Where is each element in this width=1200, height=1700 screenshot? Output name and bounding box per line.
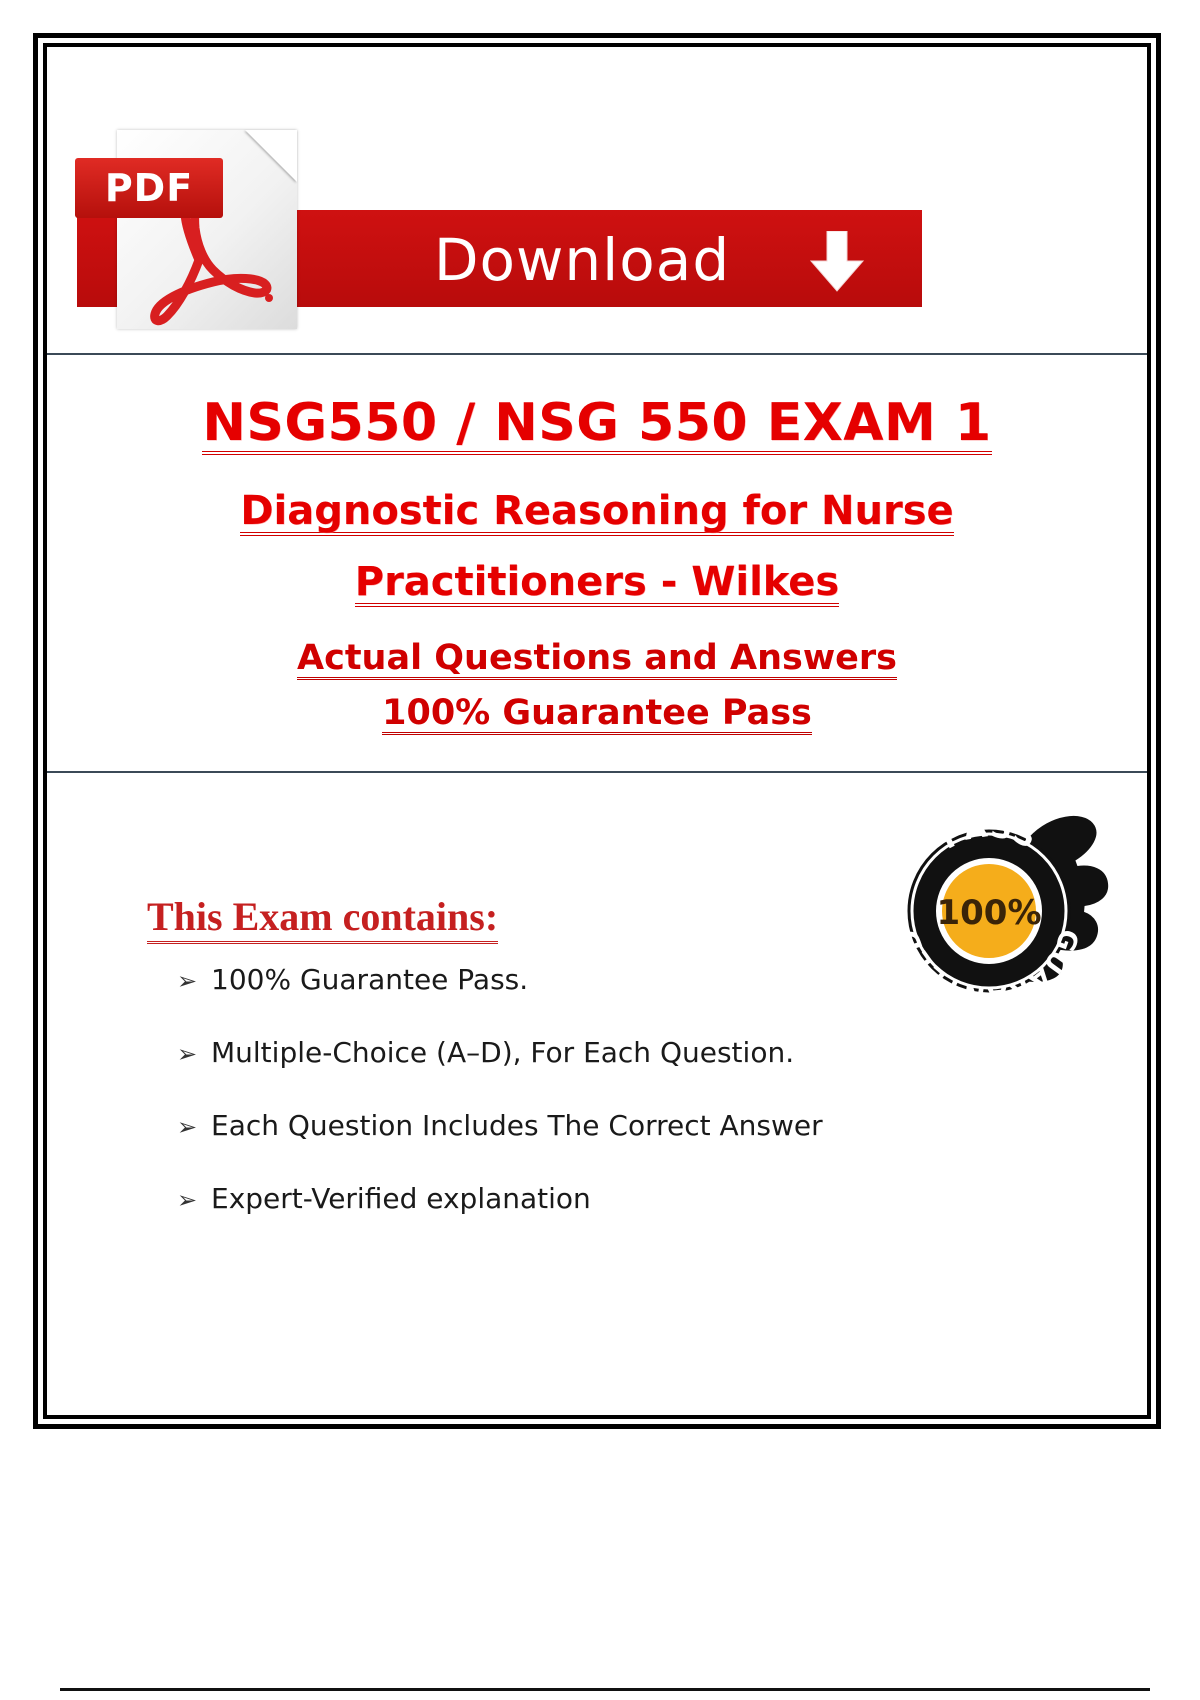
list-item: ➢ Each Question Includes The Correct Ans… xyxy=(177,1109,877,1142)
list-item-label: Multiple-Choice (A–D), For Each Question… xyxy=(211,1036,794,1069)
exam-contains-heading: This Exam contains: xyxy=(147,893,498,944)
document-page-frame-inner: Download PDF NSG550 / xyxy=(43,43,1151,1419)
download-button-label: Download xyxy=(347,225,817,295)
pass-guaranteed-badge: PASS GUARANTEED 100% xyxy=(877,791,1125,1005)
download-banner-section: Download PDF xyxy=(47,47,1147,353)
page-subtitle-line-2: Practitioners - Wilkes xyxy=(355,562,840,607)
pdf-label-tab: PDF xyxy=(75,158,223,218)
list-item: ➢ Multiple-Choice (A–D), For Each Questi… xyxy=(177,1036,877,1069)
list-item: ➢ 100% Guarantee Pass. xyxy=(177,963,877,996)
arrow-bullet-icon: ➢ xyxy=(177,1040,211,1068)
pdf-file-icon: PDF xyxy=(117,130,297,329)
list-item-label: Expert-Verified explanation xyxy=(211,1182,591,1215)
page-subtitle-line-1: Diagnostic Reasoning for Nurse xyxy=(240,491,953,536)
page-note-line-2: 100% Guarantee Pass xyxy=(382,696,812,735)
title-block-section: NSG550 / NSG 550 EXAM 1 Diagnostic Reaso… xyxy=(47,355,1147,771)
badge-center-text: 100% xyxy=(936,893,1041,933)
document-page-frame: Download PDF NSG550 / xyxy=(33,33,1161,1429)
download-arrow-icon xyxy=(809,231,865,293)
document-page-content: Download PDF NSG550 / xyxy=(47,47,1147,1415)
arrow-bullet-icon: ➢ xyxy=(177,1186,211,1214)
list-item: ➢ Expert-Verified explanation xyxy=(177,1182,877,1215)
footer-divider-rule xyxy=(60,1688,1150,1691)
exam-contains-section: This Exam contains: ➢ 100% Guarantee Pas… xyxy=(47,773,1147,1373)
page-note-line-1: Actual Questions and Answers xyxy=(297,641,897,680)
page-title: NSG550 / NSG 550 EXAM 1 xyxy=(202,397,991,455)
list-item-label: Each Question Includes The Correct Answe… xyxy=(211,1109,823,1142)
exam-contains-list: ➢ 100% Guarantee Pass. ➢ Multiple-Choice… xyxy=(177,963,877,1255)
arrow-bullet-icon: ➢ xyxy=(177,1113,211,1141)
pdf-page-fold xyxy=(245,130,297,182)
list-item-label: 100% Guarantee Pass. xyxy=(211,963,528,996)
arrow-bullet-icon: ➢ xyxy=(177,967,211,995)
